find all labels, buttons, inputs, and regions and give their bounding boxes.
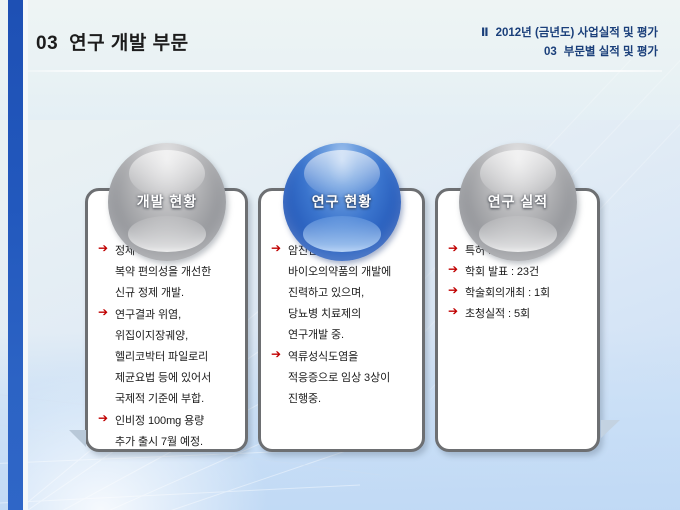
bullet-item: ➔학술회의개최 : 1회 xyxy=(448,283,589,304)
column-research-results: ➔특허 : 3건➔학회 발표 : 23건➔학술회의개최 : 1회➔초청실적 : … xyxy=(435,188,600,452)
header-line-1-text: 2012년 (금년도) 사업실적 및 평가 xyxy=(496,27,658,39)
page-title: 03연구 개발 부문 xyxy=(36,28,189,55)
header-line-2: 03부문별 실적 및 평가 xyxy=(481,43,658,62)
bullet-line: 당뇨병 치료제의 xyxy=(288,304,414,325)
sphere-dish-reflection xyxy=(479,216,557,251)
bullet-line: 국제적 기준에 부합. xyxy=(115,389,237,410)
sphere-gloss-highlight xyxy=(129,150,205,197)
bullet-item: ➔연구결과 위염,위집이지장궤양,헬리코박터 파일로리제균요법 등에 있어서국제… xyxy=(98,305,237,410)
bullet-line: 바이오의약품의 개발에 xyxy=(288,262,414,283)
bullet-item: ➔역류성식도염을적응증으로 임상 3상이진행중. xyxy=(271,347,414,410)
sphere-gloss-highlight xyxy=(480,150,556,197)
column-research-status: ➔암진단시약 등바이오의약품의 개발에진력하고 있으며,당뇨병 치료제의연구개발… xyxy=(258,188,425,452)
left-rail-gap xyxy=(23,0,28,510)
bullet-line: 위집이지장궤양, xyxy=(115,326,237,347)
bullet-item: ➔학회 발표 : 23건 xyxy=(448,262,589,283)
arrow-right-icon: ➔ xyxy=(98,306,110,318)
sphere-dish-reflection xyxy=(128,216,206,251)
sphere-label-development-status: 개발 현황 xyxy=(108,192,226,212)
bullet-item: ➔초청실적 : 5회 xyxy=(448,304,589,325)
page-title-text: 연구 개발 부문 xyxy=(69,33,188,54)
panel-body-development-status: ➔정제 크기가 작아복약 편의성을 개선한신규 정제 개발.➔연구결과 위염,위… xyxy=(98,241,237,454)
corner-fold-right-decoration xyxy=(601,420,620,438)
sphere-label-research-status: 연구 현황 xyxy=(283,192,401,212)
header-line-1: Ⅱ2012년 (금년도) 사업실적 및 평가 xyxy=(481,24,658,43)
slide-canvas: 03연구 개발 부문 Ⅱ2012년 (금년도) 사업실적 및 평가 03부문별 … xyxy=(0,0,680,510)
panel-body-research-status: ➔암진단시약 등바이오의약품의 개발에진력하고 있으며,당뇨병 치료제의연구개발… xyxy=(271,241,414,411)
header-line-2-numeral: 03 xyxy=(544,46,557,58)
header-divider xyxy=(28,70,662,72)
bullet-line: 진력하고 있으며, xyxy=(288,283,414,304)
bullet-line: 초청실적 : 5회 xyxy=(465,304,589,325)
bullet-line: 연구결과 위염, xyxy=(115,305,237,326)
sphere-gloss-highlight xyxy=(304,150,380,197)
bullet-line: 역류성식도염을 xyxy=(288,347,414,368)
arrow-right-icon: ➔ xyxy=(98,242,110,254)
arrow-right-icon: ➔ xyxy=(448,305,460,317)
bullet-item: ➔인비정 100mg 용량추가 출시 7월 예정. xyxy=(98,411,237,453)
bullet-line: 진행중. xyxy=(288,389,414,410)
sphere-research-results[interactable]: 연구 실적 xyxy=(459,143,577,261)
header-line-2-text: 부문별 실적 및 평가 xyxy=(564,46,658,58)
bullet-line: 학회 발표 : 23건 xyxy=(465,262,589,283)
bullet-line: 인비정 100mg 용량 xyxy=(115,411,237,432)
corner-fold-left-decoration xyxy=(69,430,86,447)
sphere-research-status[interactable]: 연구 현황 xyxy=(283,143,401,261)
bullet-line: 신규 정제 개발. xyxy=(115,283,237,304)
page-title-number: 03 xyxy=(36,33,58,54)
sphere-development-status[interactable]: 개발 현황 xyxy=(108,143,226,261)
bullet-line: 복약 편의성을 개선한 xyxy=(115,262,237,283)
bullet-line: 추가 출시 7월 예정. xyxy=(115,432,237,453)
bullet-line: 제균요법 등에 있어서 xyxy=(115,368,237,389)
left-accent-rail xyxy=(8,0,23,510)
arrow-right-icon: ➔ xyxy=(98,412,110,424)
sphere-dish-reflection xyxy=(303,216,381,251)
arrow-right-icon: ➔ xyxy=(271,348,283,360)
bullet-line: 학술회의개최 : 1회 xyxy=(465,283,589,304)
column-development-status: ➔정제 크기가 작아복약 편의성을 개선한신규 정제 개발.➔연구결과 위염,위… xyxy=(85,188,248,452)
arrow-right-icon: ➔ xyxy=(448,242,460,254)
arrow-right-icon: ➔ xyxy=(271,242,283,254)
header-breadcrumb: Ⅱ2012년 (금년도) 사업실적 및 평가 03부문별 실적 및 평가 xyxy=(481,24,658,62)
bullet-line: 연구개발 중. xyxy=(288,325,414,346)
arrow-right-icon: ➔ xyxy=(448,284,460,296)
bullet-line: 헬리코박터 파일로리 xyxy=(115,347,237,368)
bullet-line: 적응증으로 임상 3상이 xyxy=(288,368,414,389)
sphere-label-research-results: 연구 실적 xyxy=(459,192,577,212)
header-line-1-numeral: Ⅱ xyxy=(481,27,489,39)
arrow-right-icon: ➔ xyxy=(448,263,460,275)
